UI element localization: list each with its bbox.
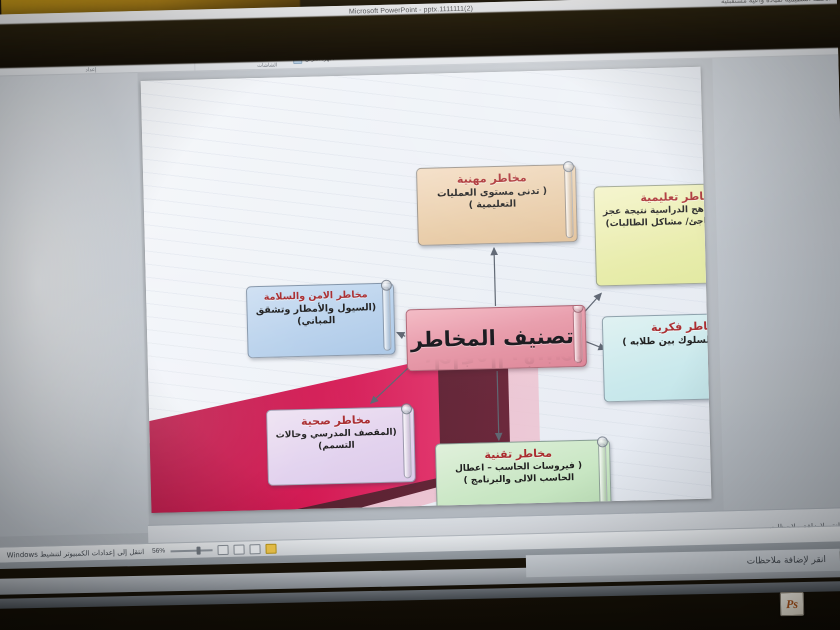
box-risk-classification-center[interactable]: تصنيف المخاطر xyxy=(406,305,588,372)
screen-glare-pane xyxy=(0,73,149,537)
photoshop-icon[interactable]: Ps xyxy=(780,592,804,616)
box-health-risks[interactable]: مخاطر صحية (المقصف المدرسي وحالات التسمم… xyxy=(266,406,416,486)
monitor-screen: Microsoft PowerPoint - pptx.1111111(2) ا… xyxy=(0,0,840,583)
photoshop-icon-label: Ps xyxy=(786,596,798,611)
box-risk-classification-title: تصنيف المخاطر xyxy=(410,324,582,352)
box-technical-risks[interactable]: مخاطر تقنية ( فيروسات الحاسب – اعطال الح… xyxy=(435,439,612,513)
view-normal-button[interactable] xyxy=(217,544,228,554)
box-technical-risks-body: ( فيروسات الحاسب – اعطال الحاسب الالى وا… xyxy=(443,460,594,488)
box-intellectual-risks-title: مخاطر فكرية xyxy=(610,318,711,336)
view-reading-button[interactable] xyxy=(249,544,260,554)
box-safety-security-risks[interactable]: مخاطر الامن والسلامة (السيول والأمطار وت… xyxy=(246,283,396,359)
zoom-percentage: 56% xyxy=(152,547,165,554)
notes-strip-text: انقر لإضافة ملاحظات xyxy=(747,555,826,567)
zoom-slider[interactable] xyxy=(170,549,212,552)
view-sorter-button[interactable] xyxy=(233,544,244,554)
box-safety-security-risks-body: (السيول والأمطار وتشقق المباني) xyxy=(254,302,378,330)
editor-workspace: مخاطر مهنية ( تدنى مستوى العمليات التعلي… xyxy=(0,55,840,582)
box-professional-risks-body: ( تدنى مستوى العمليات التعليمية ) xyxy=(424,185,560,213)
left-pane[interactable] xyxy=(0,73,149,537)
view-slideshow-button[interactable] xyxy=(265,543,276,553)
slide-thumbnail-pane[interactable] xyxy=(712,55,840,518)
box-educational-risks-body: (توقف المناهج الدراسية نتيجة عجز او وضع … xyxy=(602,203,711,231)
photograph-of-monitor: Microsoft PowerPoint - pptx.1111111(2) ا… xyxy=(0,0,840,630)
box-intellectual-risks[interactable]: مخاطر فكرية (القيم والسلوك بين طلابه ) xyxy=(602,312,712,402)
view-controls: 56% xyxy=(152,543,276,556)
box-professional-risks[interactable]: مخاطر مهنية ( تدنى مستوى العمليات التعلي… xyxy=(416,164,578,246)
box-educational-risks-title: مخاطر تعليمية xyxy=(602,188,712,206)
windows-activation-message: انتقل إلى إعدادات الكمبيوتر لتنشيط Windo… xyxy=(7,548,145,559)
box-health-risks-body: (المقصف المدرسي وحالات التسمم) xyxy=(275,427,399,454)
slide-canvas[interactable]: مخاطر مهنية ( تدنى مستوى العمليات التعلي… xyxy=(141,67,712,513)
box-educational-risks[interactable]: مخاطر تعليمية (توقف المناهج الدراسية نتي… xyxy=(593,182,711,287)
